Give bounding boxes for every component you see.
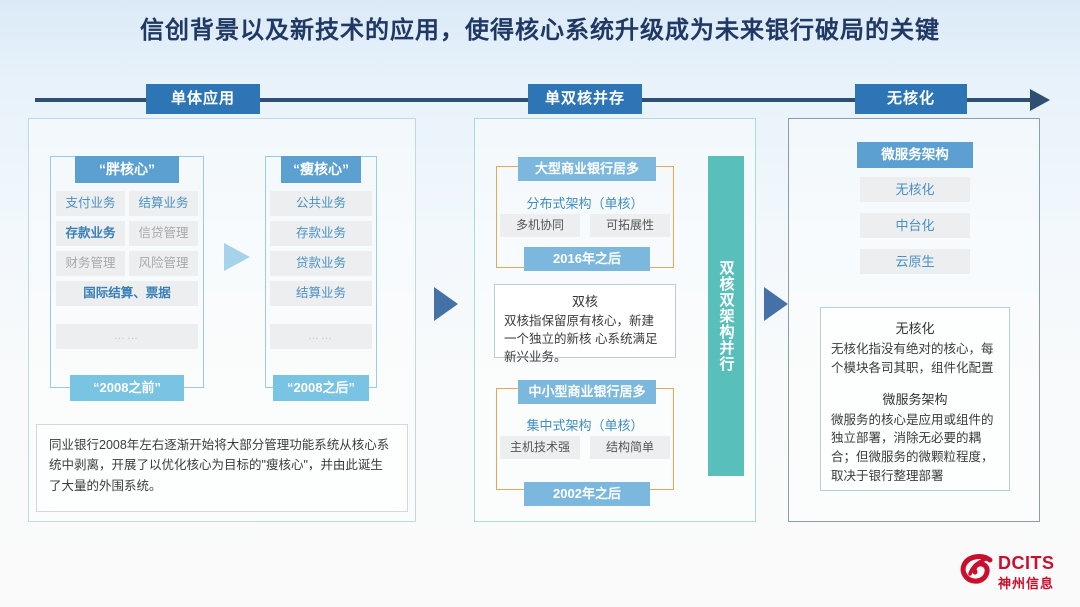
core-transition-arrow-icon (224, 243, 250, 271)
logo-en-text: DCITS (998, 553, 1055, 574)
dual-core-parallel-bar: 双核双架构并行 (708, 156, 744, 476)
microservice-chip: 中台化 (860, 213, 970, 238)
coreless-title: 无核化 (831, 318, 999, 337)
fat-core-item: 结算业务 (129, 191, 198, 216)
coreless-body: 无核化指没有绝对的核心，每个模块各司其职，组件化配置 (831, 340, 999, 378)
small-bank-footer: 2002年之后 (524, 482, 650, 506)
thin-core-item: …… (270, 324, 372, 349)
chip-spacer (56, 311, 198, 319)
small-bank-architecture: 集中式架构（单核） (496, 415, 674, 434)
large-bank-footer: 2016年之后 (524, 247, 650, 271)
microservice-chip-list: 无核化中台化云原生 (860, 177, 970, 285)
fat-core-header: “胖核心” (75, 156, 179, 183)
microservice-chip: 无核化 (860, 177, 970, 202)
dual-core-definition-box: 双核 双核指保留原有核心，新建一个独立的新核 心系统满足新兴业务。 (494, 284, 676, 358)
timeline: 单体应用 单双核并存 无核化 (0, 84, 1080, 116)
microservice-title: 微服务架构 (831, 389, 999, 408)
timeline-phase-2[interactable]: 单双核并存 (528, 84, 642, 114)
large-bank-chips: 多机协同 可拓展性 (500, 214, 670, 237)
microservice-body: 微服务的核心是应用或组件的独立部署，消除无必要的耦合；但微服务的微颗粒程度，取决… (831, 411, 999, 486)
timeline-phase-1[interactable]: 单体应用 (146, 84, 260, 114)
step-arrow-1-icon (434, 287, 458, 321)
fat-core-item: 支付业务 (56, 191, 125, 216)
large-bank-header: 大型商业银行居多 (518, 157, 656, 181)
thin-core-item: 结算业务 (270, 281, 372, 306)
fat-core-item: 财务管理 (56, 251, 125, 276)
large-bank-architecture: 分布式架构（单核） (496, 193, 674, 212)
fat-core-item: 存款业务 (56, 221, 125, 246)
fat-core-item: 风险管理 (129, 251, 198, 276)
page-title-text: 信创背景以及新技术的应用，使得核心系统升级成为未来银行破局的关键 (140, 17, 940, 44)
fat-core-item: 信贷管理 (129, 221, 198, 246)
dual-core-definition-title: 双核 (504, 291, 666, 310)
microservice-chip: 云原生 (860, 249, 970, 274)
small-bank-chip: 主机技术强 (500, 436, 580, 459)
thin-core-header: “瘦核心” (281, 156, 361, 183)
small-bank-chip: 结构简单 (590, 436, 670, 459)
dual-core-definition-body: 双核指保留原有核心，新建一个独立的新核 心系统满足新兴业务。 (504, 312, 666, 366)
thin-core-item: 公共业务 (270, 191, 372, 216)
large-bank-chip: 多机协同 (500, 214, 580, 237)
page-title: 信创背景以及新技术的应用，使得核心系统升级成为未来银行破局的关键 (0, 10, 1080, 45)
microservice-header: 微服务架构 (857, 142, 973, 168)
thin-core-item: 存款业务 (270, 221, 372, 246)
fat-core-item-grid: 支付业务结算业务存款业务信贷管理财务管理风险管理国际结算、票据…… (56, 191, 198, 349)
thin-core-item-grid: 公共业务存款业务贷款业务结算业务…… (270, 191, 372, 349)
monolithic-caption: 同业银行2008年左右逐渐开始将大部分管理功能系统从核心系统中剥离，开展了以优化… (36, 424, 408, 512)
logo-cn-text: 神州信息 (998, 573, 1054, 592)
small-bank-header: 中小型商业银行居多 (518, 380, 656, 404)
thin-core-item: 贷款业务 (270, 251, 372, 276)
thin-core-footer: “2008之后” (273, 375, 369, 401)
fat-core-item: …… (56, 324, 198, 349)
timeline-arrow-icon (1030, 89, 1050, 111)
fat-core-footer: “2008之前” (70, 375, 184, 401)
step-arrow-2-icon (764, 287, 788, 321)
chip-spacer (270, 311, 372, 319)
coreless-caption: 无核化 无核化指没有绝对的核心，每个模块各司其职，组件化配置 微服务架构 微服务… (820, 307, 1010, 491)
small-bank-chips: 主机技术强 结构简单 (500, 436, 670, 459)
company-logo: DCITS 神州信息 (960, 551, 1070, 593)
large-bank-chip: 可拓展性 (590, 214, 670, 237)
timeline-phase-3[interactable]: 无核化 (855, 84, 967, 114)
fat-core-item: 国际结算、票据 (56, 281, 198, 306)
dcits-swirl-icon (960, 553, 994, 587)
